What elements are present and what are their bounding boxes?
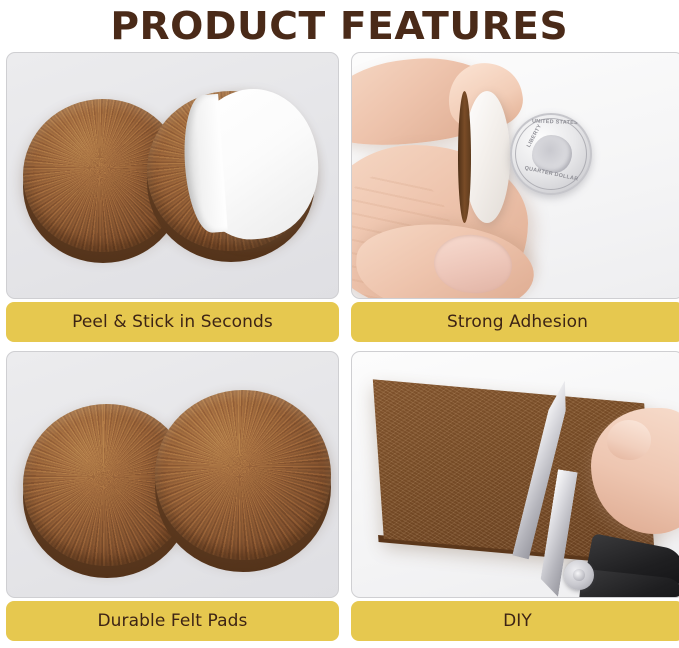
fingertip — [607, 420, 651, 460]
product-features-infographic: PRODUCT FEATURES Peel & Stick in Seco — [0, 0, 679, 648]
feature-card-strong-adhesion[interactable]: UNITED STATES OF AMERICA LIBERTY QUARTER… — [351, 52, 679, 342]
caption-bar-strong-adhesion: Strong Adhesion — [351, 302, 679, 342]
caption-bar-peel-and-stick: Peel & Stick in Seconds — [6, 302, 339, 342]
feature-image-peel-and-stick — [6, 52, 339, 299]
coin-legend: UNITED STATES OF AMERICA LIBERTY QUARTER… — [510, 113, 592, 195]
caption-label: DIY — [503, 611, 532, 631]
scissors-pivot-screw — [573, 569, 585, 581]
feature-image-durable-felt-pads — [6, 351, 339, 598]
feature-image-diy — [351, 351, 679, 598]
caption-label: Strong Adhesion — [447, 312, 588, 332]
feature-card-peel-and-stick[interactable]: Peel & Stick in Seconds — [6, 52, 339, 342]
page-title: PRODUCT FEATURES — [111, 7, 569, 45]
title-bar: PRODUCT FEATURES — [0, 0, 679, 52]
caption-bar-durable-felt-pads: Durable Felt Pads — [6, 601, 339, 641]
caption-label: Durable Felt Pads — [97, 611, 247, 631]
feature-card-durable-felt-pads[interactable]: Durable Felt Pads — [6, 351, 339, 641]
felt-pad-edge-profile — [458, 91, 471, 223]
feature-card-diy[interactable]: DIY — [351, 351, 679, 641]
coin-denomination-text: QUARTER DOLLAR — [524, 165, 579, 182]
felt-pad-right — [155, 390, 331, 560]
quarter-coin: UNITED STATES OF AMERICA LIBERTY QUARTER… — [510, 113, 592, 195]
features-grid: Peel & Stick in Seconds UNITED STATES OF… — [0, 52, 679, 641]
caption-bar-diy: DIY — [351, 601, 679, 641]
felt-rim-shading — [155, 390, 331, 560]
feature-image-strong-adhesion: UNITED STATES OF AMERICA LIBERTY QUARTER… — [351, 52, 679, 299]
coin-liberty-text: LIBERTY — [526, 123, 543, 148]
caption-label: Peel & Stick in Seconds — [72, 312, 273, 332]
